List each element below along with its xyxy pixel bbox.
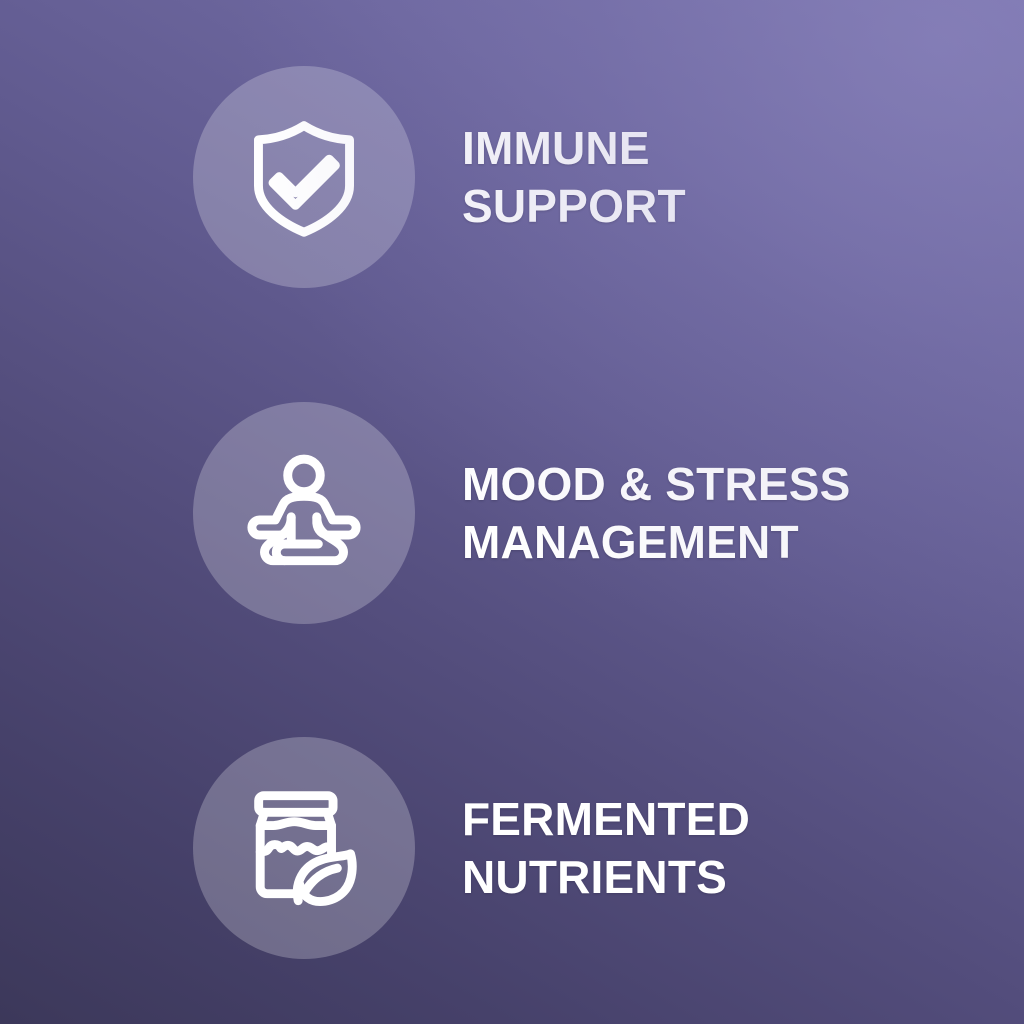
feature-item-mood-stress-management: MOOD & STRESS MANAGEMENT	[0, 395, 1024, 631]
feature-item-fermented-nutrients: FERMENTED NUTRIENTS	[0, 730, 1024, 966]
feature-label: MOOD & STRESS MANAGEMENT	[462, 455, 1024, 571]
feature-label: IMMUNE SUPPORT	[462, 119, 1024, 235]
icon-badge	[193, 66, 415, 288]
feature-label: FERMENTED NUTRIENTS	[462, 790, 1024, 906]
benefits-graphic: IMMUNE SUPPORT MOOD & STRESS MANAGEMENT	[0, 0, 1024, 1024]
icon-badge	[193, 402, 415, 624]
meditation-lotus-icon	[242, 451, 366, 575]
feature-list: IMMUNE SUPPORT MOOD & STRESS MANAGEMENT	[0, 0, 1024, 1024]
fermented-jar-leaf-icon	[242, 786, 366, 910]
shield-check-icon	[242, 115, 366, 239]
icon-badge	[193, 737, 415, 959]
feature-item-immune-support: IMMUNE SUPPORT	[0, 59, 1024, 295]
